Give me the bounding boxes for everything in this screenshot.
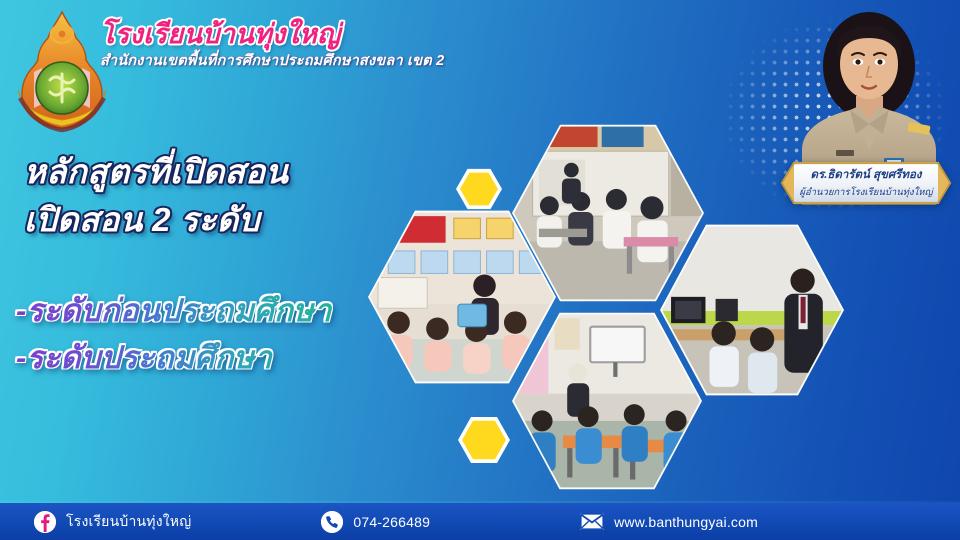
header-text-block: โรงเรียนบ้านทุ่งใหญ่ สำนักงานเขตพื้นที่ก… — [100, 20, 560, 72]
envelope-icon — [580, 513, 604, 530]
footer-facebook[interactable]: โรงเรียนบ้านทุ่งใหญ่ — [34, 511, 191, 533]
photo-computer-lab[interactable] — [660, 222, 844, 398]
education-office-subtitle: สำนักงานเขตพื้นที่การศึกษาประถมศึกษาสงขล… — [100, 49, 560, 72]
obec-emblem-logo — [12, 8, 112, 136]
heading-curriculum-offered: หลักสูตรที่เปิดสอน — [24, 152, 288, 192]
poster-canvas: โรงเรียนบ้านทุ่งใหญ่ สำนักงานเขตพื้นที่ก… — [0, 0, 960, 540]
school-title: โรงเรียนบ้านทุ่งใหญ่ — [100, 20, 560, 48]
website-url-label: www.banthungyai.com — [614, 514, 758, 530]
yellow-hexagon-top — [456, 168, 502, 210]
facebook-icon — [34, 511, 56, 533]
facebook-page-label: โรงเรียนบ้านทุ่งใหญ่ — [66, 511, 191, 533]
contact-footer-bar: โรงเรียนบ้านทุ่งใหญ่ 074-266489 www.bant… — [0, 503, 960, 540]
list-item: -ระดับก่อนประถมศึกษา — [16, 288, 332, 335]
phone-number-label: 074-266489 — [353, 514, 430, 530]
director-role: ผู้อำนวยการโรงเรียนบ้านทุ่งใหญ่ — [799, 185, 932, 200]
list-item: -ระดับประถมศึกษา — [16, 335, 332, 382]
footer-phone[interactable]: 074-266489 — [321, 511, 430, 533]
director-name-plate: ดร.ธิดารัตน์ สุขศรีทอง ผู้อำนวยการโรงเรี… — [780, 160, 952, 206]
curriculum-level-list: -ระดับก่อนประถมศึกษา -ระดับประถมศึกษา — [16, 288, 332, 381]
director-name: ดร.ธิดารัตน์ สุขศรีทอง — [811, 166, 922, 184]
heading-two-levels: เปิดสอน 2 ระดับ — [24, 200, 288, 240]
photo-group-activity[interactable] — [512, 310, 702, 492]
headline-block: หลักสูตรที่เปิดสอน เปิดสอน 2 ระดับ — [24, 152, 288, 241]
phone-icon — [321, 511, 343, 533]
yellow-hexagon-bottom — [458, 416, 510, 464]
footer-website[interactable]: www.banthungyai.com — [580, 513, 758, 530]
